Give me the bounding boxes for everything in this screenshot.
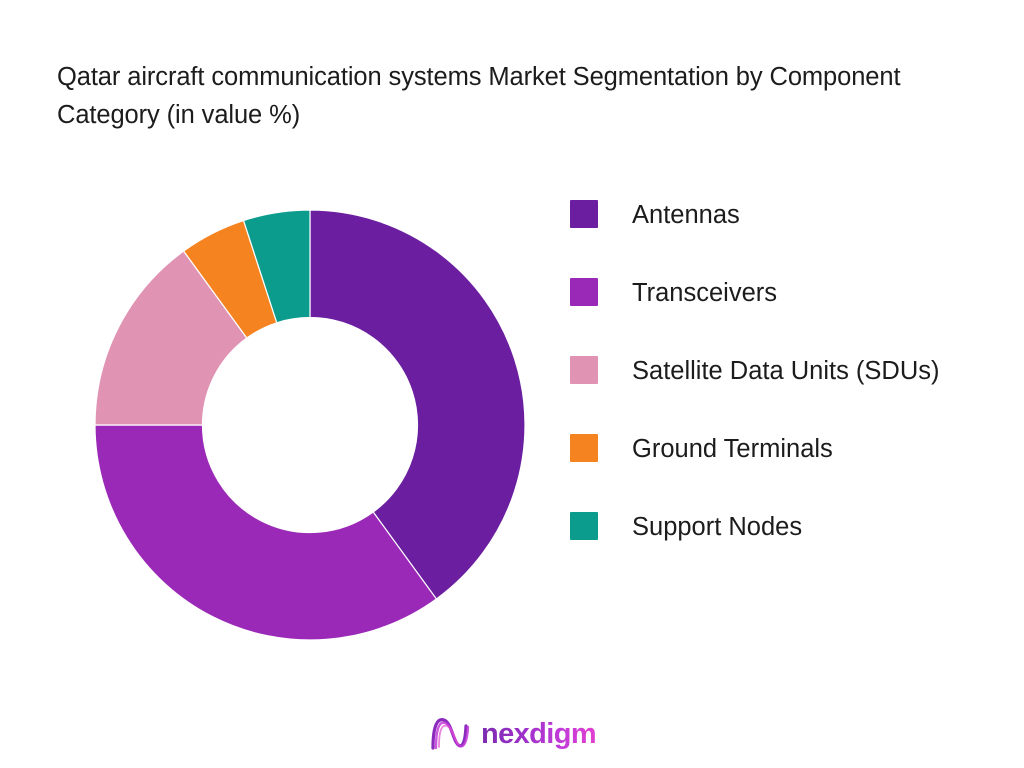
legend-item[interactable]: Ground Terminals (570, 430, 990, 468)
legend-item-label: Antennas (632, 196, 740, 234)
legend-item[interactable]: Transceivers (570, 274, 990, 312)
legend-swatch-icon (570, 434, 598, 462)
legend-item-label: Satellite Data Units (SDUs) (632, 352, 940, 390)
legend-swatch-icon (570, 200, 598, 228)
page-title: Qatar aircraft communication systems Mar… (57, 58, 937, 134)
brand-name: nexdigm (481, 718, 596, 751)
legend-swatch-icon (570, 356, 598, 384)
legend-item-label: Support Nodes (632, 508, 802, 546)
donut-chart (95, 210, 525, 640)
nexdigm-logo-icon (428, 714, 472, 754)
brand-logo: nexdigm (0, 714, 1024, 754)
legend-swatch-icon (570, 278, 598, 306)
legend-swatch-icon (570, 512, 598, 540)
donut-slice[interactable] (95, 425, 436, 640)
donut-chart-svg (95, 210, 525, 640)
chart-legend: AntennasTransceiversSatellite Data Units… (570, 196, 990, 546)
legend-item-label: Transceivers (632, 274, 777, 312)
legend-item[interactable]: Antennas (570, 196, 990, 234)
legend-item[interactable]: Satellite Data Units (SDUs) (570, 352, 990, 390)
legend-item-label: Ground Terminals (632, 430, 833, 468)
donut-slice-group (95, 210, 525, 640)
legend-item[interactable]: Support Nodes (570, 508, 990, 546)
